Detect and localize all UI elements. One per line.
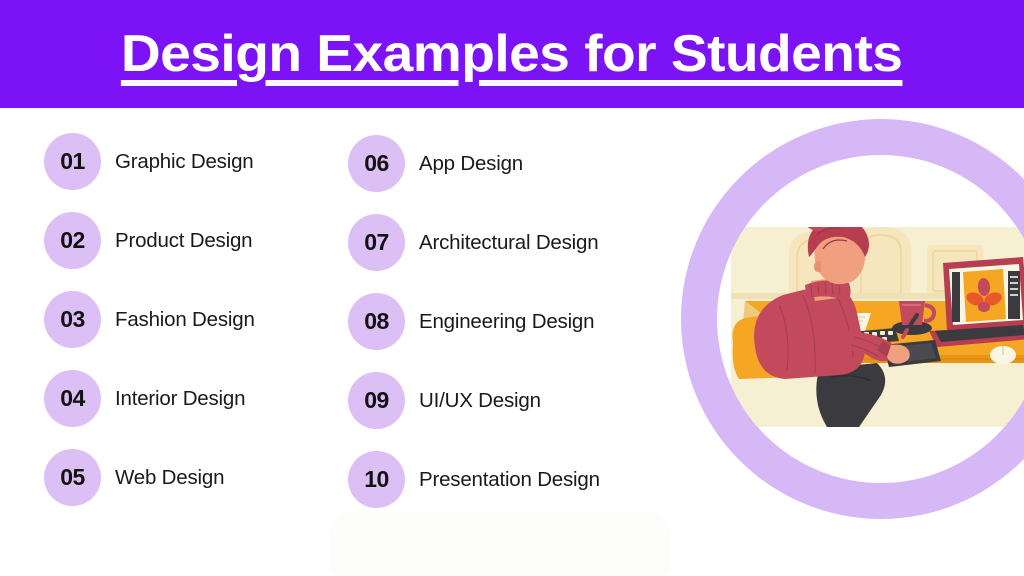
list-column-right: 06 App Design 07 Architectural Design 08… xyxy=(348,135,600,530)
number-badge: 06 xyxy=(348,135,405,192)
list-column-left: 01 Graphic Design 02 Product Design 03 F… xyxy=(44,133,255,528)
number-badge: 08 xyxy=(348,293,405,350)
illustration-clip xyxy=(717,155,1024,483)
item-label: Graphic Design xyxy=(115,150,254,174)
list-item[interactable]: 01 Graphic Design xyxy=(44,133,255,190)
number-badge: 01 xyxy=(44,133,101,190)
number-badge: 05 xyxy=(44,449,101,506)
list-item[interactable]: 07 Architectural Design xyxy=(348,214,600,271)
white-circle-mask xyxy=(717,155,1024,483)
number-badge: 10 xyxy=(348,451,405,508)
list-item[interactable]: 10 Presentation Design xyxy=(348,451,600,508)
number-badge: 02 xyxy=(44,212,101,269)
item-label: UI/UX Design xyxy=(419,389,541,413)
header-band: Design Examples for Students xyxy=(0,0,1024,108)
number-badge: 09 xyxy=(348,372,405,429)
desk-scene-svg xyxy=(731,227,1024,427)
item-label: Engineering Design xyxy=(419,310,594,334)
item-label: Product Design xyxy=(115,229,252,253)
page-title: Design Examples for Students xyxy=(121,28,903,80)
list-item[interactable]: 08 Engineering Design xyxy=(348,293,600,350)
item-label: Fashion Design xyxy=(115,308,255,332)
item-label: Interior Design xyxy=(115,387,245,411)
item-label: Web Design xyxy=(115,466,224,490)
item-label: Presentation Design xyxy=(419,468,600,492)
designer-at-desk-illustration xyxy=(681,119,1024,519)
list-item[interactable]: 03 Fashion Design xyxy=(44,291,255,348)
number-badge: 04 xyxy=(44,370,101,427)
poster-root: Design Examples for Students 01 Graphic … xyxy=(0,0,1024,576)
number-badge: 03 xyxy=(44,291,101,348)
item-label: Architectural Design xyxy=(419,231,598,255)
list-item[interactable]: 09 UI/UX Design xyxy=(348,372,600,429)
list-item[interactable]: 02 Product Design xyxy=(44,212,255,269)
number-badge: 07 xyxy=(348,214,405,271)
list-item[interactable]: 04 Interior Design xyxy=(44,370,255,427)
list-item[interactable]: 06 App Design xyxy=(348,135,600,192)
item-label: App Design xyxy=(419,152,523,176)
list-item[interactable]: 05 Web Design xyxy=(44,449,255,506)
decorative-shape xyxy=(330,512,670,576)
